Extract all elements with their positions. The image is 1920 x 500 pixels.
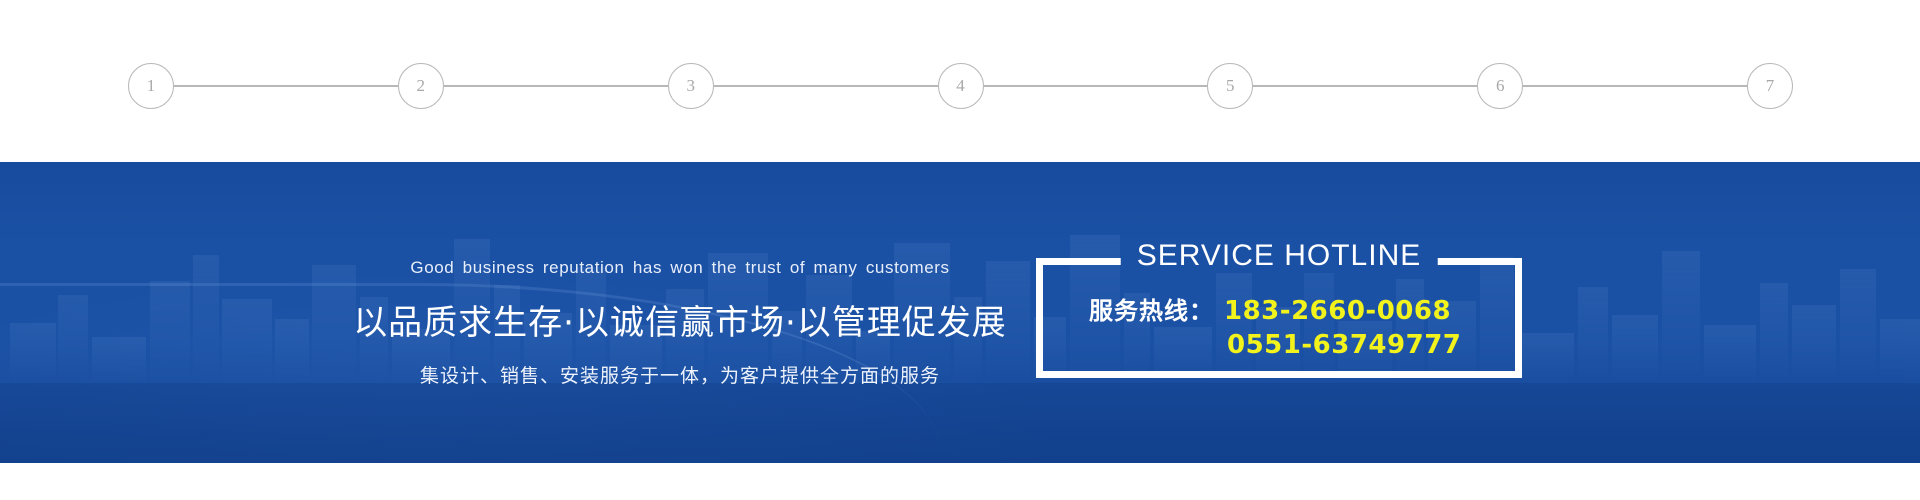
slogan-headline: 以品质求生存·以诚信赢市场·以管理促发展 [300,295,1060,344]
step-node-3[interactable]: 3 [668,63,714,109]
hotline-label: 服务热线： [1089,291,1214,326]
hotline-secondary-number[interactable]: 0551-63749777 [1227,330,1461,360]
hotline-row-primary: 服务热线： 183-2660-0068 [1043,291,1515,326]
step-node-7[interactable]: 7 [1747,63,1793,109]
step-label: 4 [956,76,965,96]
hotline-primary-number[interactable]: 183-2660-0068 [1224,296,1451,326]
hotline-number-list: 服务热线： 183-2660-0068 0551-63749777 [1043,291,1515,360]
page-root: 1 2 3 4 5 6 7 [0,0,1920,500]
step-label: 1 [147,76,156,96]
step-label: 6 [1496,76,1505,96]
step-node-1[interactable]: 1 [128,63,174,109]
hotline-row-secondary: 0551-63749777 [1043,330,1515,360]
step-node-4[interactable]: 4 [938,63,984,109]
step-node-5[interactable]: 5 [1207,63,1253,109]
slogan-block: Good business reputation has won the tru… [300,258,1060,388]
slogan-english-line: Good business reputation has won the tru… [300,258,1060,278]
step-label: 2 [417,76,426,96]
service-hotline-box: SERVICE HOTLINE 服务热线： 183-2660-0068 0551… [1036,258,1522,378]
step-label: 3 [686,76,695,96]
step-node-6[interactable]: 6 [1477,63,1523,109]
promo-banner: Good business reputation has won the tru… [0,162,1920,463]
step-navigation: 1 2 3 4 5 6 7 [0,0,1920,162]
step-label: 7 [1766,76,1775,96]
foreground-band [0,383,1920,463]
step-label: 5 [1226,76,1235,96]
service-hotline-title: SERVICE HOTLINE [1121,239,1438,273]
step-node-2[interactable]: 2 [398,63,444,109]
slogan-subline: 集设计、销售、安装服务于一体，为客户提供全方面的服务 [300,361,1060,388]
